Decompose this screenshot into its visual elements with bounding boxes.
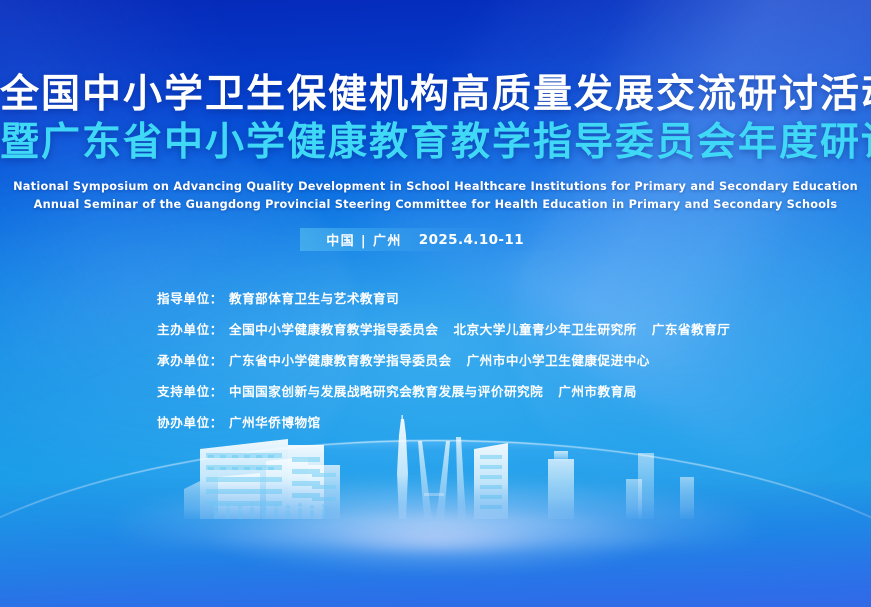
organization-value: 广东省教育厅 [652,319,731,338]
badge-location-label: 中国 | 广州 [326,230,402,249]
organization-value: 北京大学儿童青少年卫生研究所 [453,319,636,338]
organization-label: 指导单位： [157,288,223,307]
organization-value: 广州市教育局 [558,381,637,400]
organization-value: 教育部体育卫生与艺术教育司 [229,288,399,307]
badge-date-label: 2025.4.10-11 [419,232,524,248]
organization-value: 广州华侨博物馆 [229,412,321,431]
organization-value: 全国中小学健康教育教学指导委员会 [229,319,439,338]
poster-title-line-1: 全国中小学卫生保健机构高质量发展交流研讨活动 [0,74,871,116]
poster-title-block: 全国中小学卫生保健机构高质量发展交流研讨活动 暨广东省中小学健康教育教学指导委员… [0,74,871,164]
organization-label: 主办单位： [157,319,223,338]
organization-value: 中国国家创新与发展战略研究会教育发展与评价研究院 [229,381,543,400]
organization-label: 承办单位： [157,350,223,369]
location-date-badge: 中国 | 广州 2025.4.10-11 [300,228,570,251]
organization-row-coorganizer: 协办单位： 广州华侨博物馆 [157,412,730,431]
organization-label: 支持单位： [157,381,223,400]
conference-poster: 全国中小学卫生保健机构高质量发展交流研讨活动 暨广东省中小学健康教育教学指导委员… [0,0,871,607]
organization-list: 指导单位： 教育部体育卫生与艺术教育司 主办单位： 全国中小学健康教育教学指导委… [157,288,730,443]
organization-row-guidance: 指导单位： 教育部体育卫生与艺术教育司 [157,288,730,307]
organization-value: 广东省中小学健康教育教学指导委员会 [229,350,452,369]
organization-value: 广州市中小学卫生健康促进中心 [467,350,650,369]
organization-row-host: 主办单位： 全国中小学健康教育教学指导委员会 北京大学儿童青少年卫生研究所 广东… [157,319,730,338]
poster-subtitle-block: National Symposium on Advancing Quality … [0,178,871,213]
poster-title-line-2: 暨广东省中小学健康教育教学指导委员会年度研讨活动 [0,122,871,164]
poster-subtitle-line-2: Annual Seminar of the Guangdong Provinci… [0,196,871,214]
organization-row-support: 支持单位： 中国国家创新与发展战略研究会教育发展与评价研究院 广州市教育局 [157,381,730,400]
organization-row-organizer: 承办单位： 广东省中小学健康教育教学指导委员会 广州市中小学卫生健康促进中心 [157,350,730,369]
poster-subtitle-line-1: National Symposium on Advancing Quality … [0,178,871,196]
organization-label: 协办单位： [157,412,223,431]
